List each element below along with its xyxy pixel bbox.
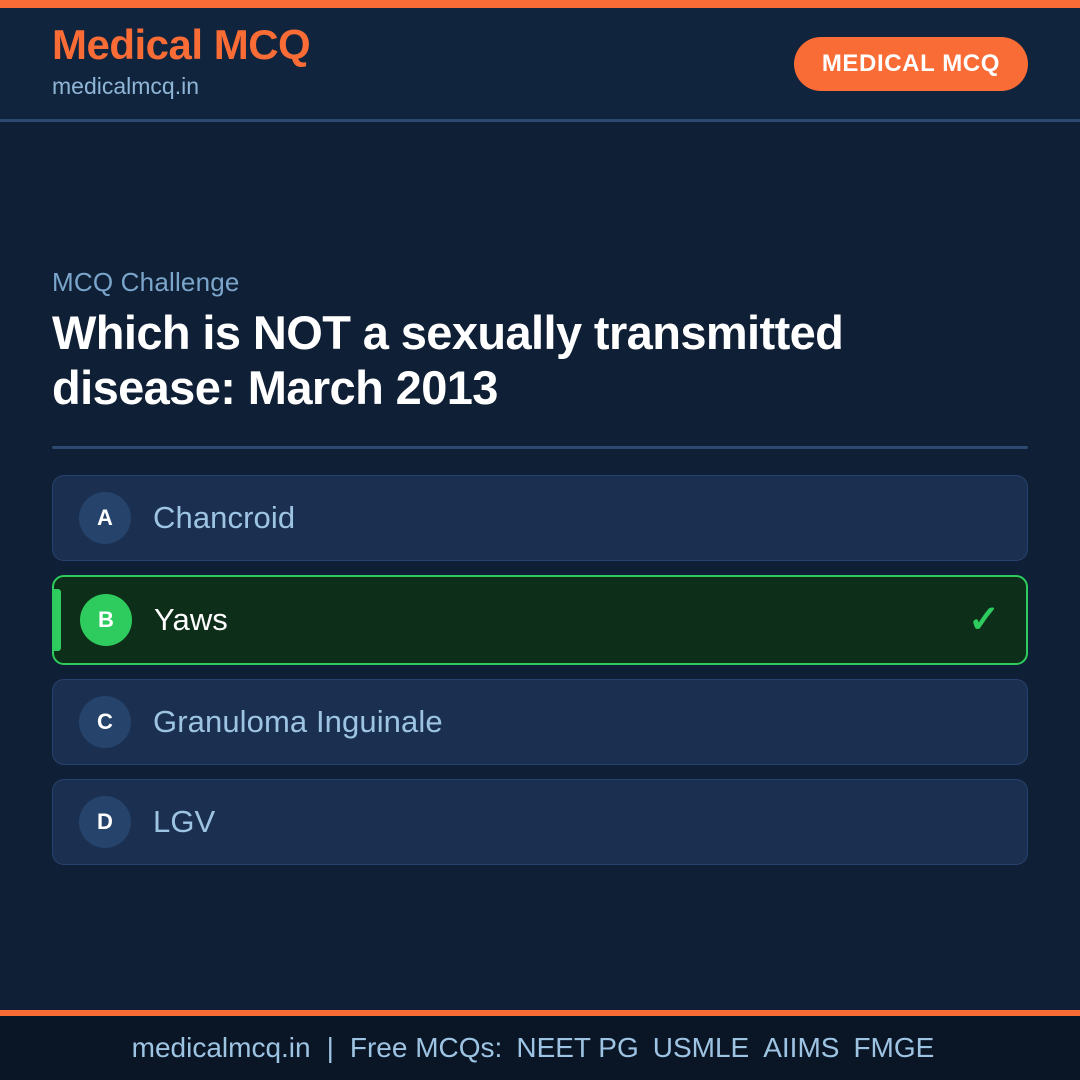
brand-subtitle: medicalmcq.in — [52, 69, 310, 104]
option-a[interactable]: A Chancroid — [52, 475, 1028, 561]
footer-separator: | — [311, 1032, 350, 1064]
header-badge: MEDICAL MCQ — [794, 37, 1028, 91]
footer-exam-fmge: FMGE — [853, 1032, 948, 1064]
main-content: MCQ Challenge Which is NOT a sexually tr… — [0, 122, 1080, 1010]
option-letter-badge: C — [79, 696, 131, 748]
page-header: Medical MCQ medicalmcq.in MEDICAL MCQ — [0, 8, 1080, 122]
footer-site[interactable]: medicalmcq.in — [132, 1032, 311, 1064]
brand-block: Medical MCQ medicalmcq.in — [52, 23, 310, 104]
mcq-card: Medical MCQ medicalmcq.in MEDICAL MCQ MC… — [0, 0, 1080, 1080]
page-footer: medicalmcq.in | Free MCQs: NEET PG USMLE… — [0, 1016, 1080, 1080]
option-b[interactable]: B Yaws ✓ — [52, 575, 1028, 665]
correct-accent-bar — [54, 589, 61, 651]
option-letter-badge: A — [79, 492, 131, 544]
option-d[interactable]: D LGV — [52, 779, 1028, 865]
options-list: A Chancroid B Yaws ✓ C Granuloma Inguina… — [52, 475, 1028, 865]
option-label: LGV — [153, 804, 215, 840]
top-accent-bar — [0, 0, 1080, 8]
footer-prefix: Free MCQs: — [350, 1032, 516, 1064]
brand-title: Medical MCQ — [52, 23, 310, 67]
footer-exam-usmle: USMLE — [653, 1032, 763, 1064]
footer-exam-neet-pg: NEET PG — [516, 1032, 652, 1064]
option-label: Chancroid — [153, 500, 295, 536]
eyebrow-label: MCQ Challenge — [52, 267, 1028, 298]
option-letter-badge: B — [80, 594, 132, 646]
check-icon: ✓ — [968, 601, 1000, 639]
footer-exam-aiims: AIIMS — [763, 1032, 853, 1064]
question-divider — [52, 446, 1028, 449]
question-text: Which is NOT a sexually transmitted dise… — [52, 306, 1028, 416]
option-label: Yaws — [154, 602, 228, 638]
option-letter-badge: D — [79, 796, 131, 848]
option-label: Granuloma Inguinale — [153, 704, 443, 740]
option-c[interactable]: C Granuloma Inguinale — [52, 679, 1028, 765]
